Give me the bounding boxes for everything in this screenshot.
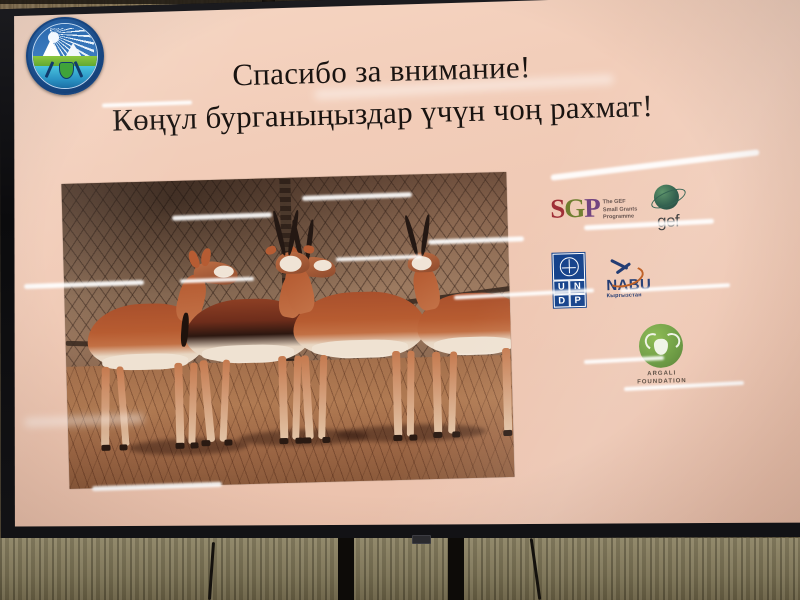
sgp-letters: SGP [550, 196, 600, 223]
sgp-letter-p: P [584, 193, 600, 223]
argali-wordmark: ARGALI FOUNDATION [631, 369, 693, 387]
nabu-logo: NABU Кыргызстан [606, 259, 652, 299]
sgp-subtitle: The GEF Small Grants Programme [603, 199, 638, 223]
gef-logo: gef [651, 182, 685, 232]
tv-screen[interactable]: Спасибо за внимание! Көңүл бурганыңыздар… [0, 0, 800, 566]
wall-below-tv [0, 538, 800, 600]
gef-globe-icon [651, 182, 685, 213]
argali-head-icon [638, 323, 683, 368]
logo-row-top: SGP The GEF Small Grants Programme [550, 180, 766, 235]
ministry-emblem-icon [26, 17, 104, 95]
presentation-slide: Спасибо за внимание! Көңүл бурганыңыздар… [0, 0, 800, 566]
sgp-letter-s: S [550, 194, 565, 224]
sgp-letter-g: G [564, 193, 585, 224]
undp-letter-u: U [553, 280, 569, 294]
undp-letter-n: N [569, 280, 585, 294]
gef-wordmark: gef [651, 211, 685, 232]
gazelle [416, 259, 515, 442]
tv-ir-sensor [412, 535, 431, 544]
undp-logo: UN DP [551, 252, 587, 309]
logo-row-bottom: ARGALI FOUNDATION [629, 323, 693, 387]
photograph-scene: Спасибо за внимание! Көңүл бурганыңыздар… [0, 0, 800, 600]
sponsor-logos: SGP The GEF Small Grants Programme [550, 180, 770, 390]
undp-letter-d: D [554, 294, 570, 308]
television[interactable]: Спасибо за внимание! Көңүл бурганыңыздар… [0, 0, 800, 566]
wall-gap [448, 538, 464, 600]
argali-line-2: FOUNDATION [631, 377, 693, 387]
un-emblem-icon [552, 253, 585, 281]
logo-row-middle: UN DP NABU Кыргызстан [551, 247, 767, 309]
sgp-subtitle-line-3: Programme [603, 214, 638, 222]
undp-letter-p: P [570, 293, 586, 307]
gazelle-photo [61, 172, 514, 489]
wall-gap [338, 538, 354, 600]
sgp-logo: SGP The GEF Small Grants Programme [550, 195, 638, 224]
slide-title-block: Спасибо за внимание! Көңүл бурганыңыздар… [0, 43, 778, 142]
nabu-bird-icon [606, 259, 643, 279]
